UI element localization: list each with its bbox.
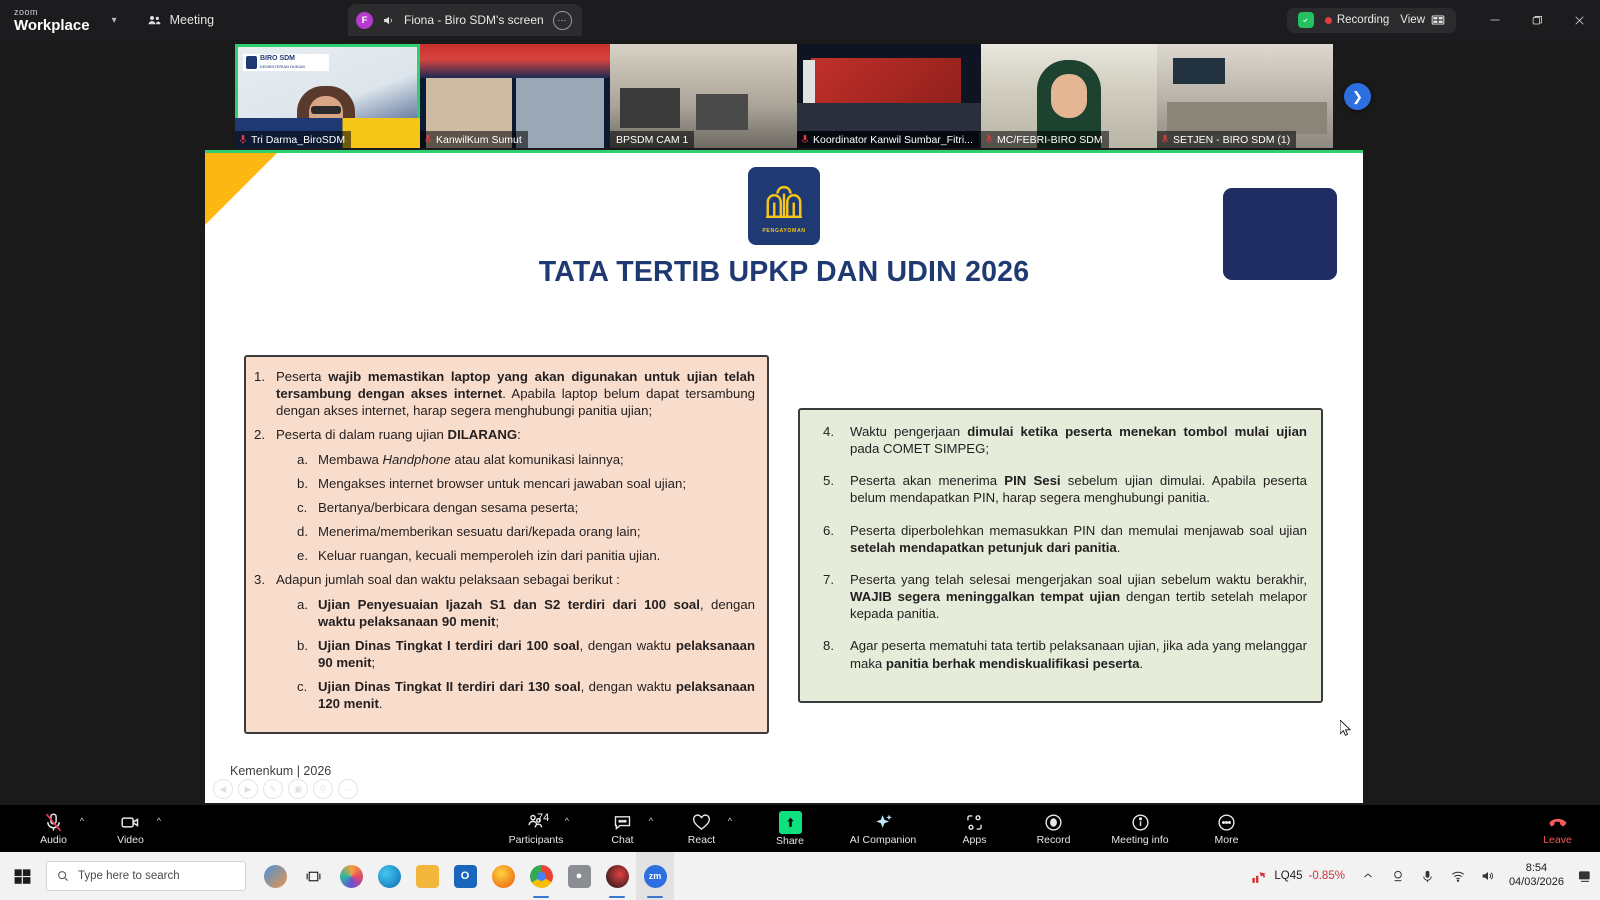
stock-symbol: LQ45 (1274, 870, 1302, 882)
list-text: Peserta akan menerima PIN Sesi sebelum u… (850, 472, 1311, 506)
volume-button[interactable] (1473, 852, 1503, 900)
list-text: Menerima/memberikan sesuatu dari/kepada … (318, 523, 755, 540)
chevron-up-icon (1362, 870, 1374, 882)
video-camera-icon (120, 812, 141, 833)
taskbar-edge[interactable] (370, 852, 408, 900)
recording-indicator[interactable]: Recording (1325, 14, 1389, 26)
taskbar-outlook[interactable]: O (446, 852, 484, 900)
list-text: Ujian Penyesuaian Ijazah S1 dan S2 terdi… (318, 596, 755, 630)
prev-slide-icon[interactable]: ◀ (213, 779, 233, 799)
list-text: Adapun jumlah soal dan waktu pelaksaan s… (276, 571, 755, 588)
close-button[interactable] (1558, 0, 1600, 40)
speaker-icon (1480, 868, 1496, 884)
leave-button[interactable]: Leave (1529, 805, 1586, 852)
windows-logo-icon (13, 867, 32, 886)
meeting-info-label: Meeting info (1111, 835, 1168, 846)
mouse-cursor (1340, 720, 1351, 736)
notification-icon (1577, 868, 1593, 884)
annotation-toolbar[interactable]: ◀ ▶ ✎ ▣ ⚲ ⋯ (213, 779, 358, 799)
list-marker: 1. (254, 368, 276, 419)
heart-icon (691, 812, 712, 833)
banyan-tree-icon (758, 179, 810, 231)
tile-name: Tri Darma_BiroSDM (235, 131, 351, 148)
chat-button[interactable]: Chat ^ (594, 805, 651, 852)
taskbar-camera[interactable]: ● (560, 852, 598, 900)
chat-label: Chat (611, 835, 633, 846)
list-text: Bertanya/berbicara dengan sesama peserta… (318, 499, 755, 516)
list-text: Peserta wajib memastikan laptop yang aka… (276, 368, 755, 419)
meeting-tab[interactable]: Meeting (147, 13, 214, 28)
search-placeholder: Type here to search (78, 870, 180, 882)
taskbar-firefox[interactable] (484, 852, 522, 900)
notification-center-button[interactable] (1570, 852, 1600, 900)
brand-top: zoom (14, 8, 90, 17)
ai-companion-button[interactable]: AI Companion (842, 805, 924, 852)
list-text: Peserta di dalam ruang ujian DILARANG: (276, 426, 755, 443)
meeting-info-button[interactable]: Meeting info (1104, 805, 1176, 852)
app-icon (606, 865, 629, 888)
participants-label: Participants (509, 835, 564, 846)
audio-button[interactable]: Audio ^ (25, 805, 82, 852)
status-pod: Recording View (1287, 8, 1456, 33)
edge-icon (378, 865, 401, 888)
show-hidden-icons-button[interactable] (1353, 852, 1383, 900)
tile-name: SETJEN - BIRO SDM (1) (1157, 131, 1296, 148)
clock-time: 8:54 (1526, 862, 1547, 876)
rule-item-left: c.Ujian Dinas Tingkat II terdiri dari 13… (254, 678, 755, 712)
camera-icon[interactable]: ▣ (288, 779, 308, 799)
taskbar-copilot[interactable] (332, 852, 370, 900)
shared-screen-slide[interactable]: PENGAYOMAN TATA TERTIB UPKP DAN UDIN 202… (205, 150, 1363, 803)
list-marker: b. (297, 475, 318, 492)
list-marker: c. (297, 678, 318, 712)
logo-caption: PENGAYOMAN (762, 228, 805, 234)
apps-icon (964, 812, 985, 833)
list-text: Keluar ruangan, kecuali memperoleh izin … (318, 547, 755, 564)
taskbar-chrome[interactable] (522, 852, 560, 900)
search-input[interactable]: Type here to search (46, 861, 246, 891)
participants-count: 74 (537, 812, 549, 824)
slide-footer: Kemenkum | 2026 (230, 764, 331, 778)
list-text: Peserta diperbolehkan memasukkan PIN dan… (850, 522, 1311, 556)
info-icon (1130, 812, 1151, 833)
copilot-icon (340, 865, 363, 888)
video-tile[interactable]: KanwilKum Sumut (420, 44, 610, 148)
rule-item-left: e.Keluar ruangan, kecuali memperoleh izi… (254, 547, 755, 564)
rule-item-left: b.Ujian Dinas Tingkat I terdiri dari 100… (254, 637, 755, 671)
chrome-icon (530, 865, 553, 888)
active-share-tab[interactable]: F Fiona - Biro SDM's screen ⋯ (348, 4, 582, 36)
rules-box-left: 1.Peserta wajib memastikan laptop yang a… (244, 355, 769, 734)
video-tile[interactable]: BIRO SDMKEMENTERIAN HUKUM Tri Darma_Biro… (235, 44, 420, 148)
stock-change: -0.85% (1309, 870, 1345, 882)
decor-yellow-triangle (205, 153, 277, 225)
leave-label: Leave (1543, 835, 1572, 846)
layout-icon (1431, 13, 1445, 27)
record-label: Record (1037, 835, 1071, 846)
tile-label: Tri Darma_BiroSDM (251, 134, 345, 146)
rule-item-left: 1.Peserta wajib memastikan laptop yang a… (254, 368, 755, 419)
next-slide-icon[interactable]: ▶ (238, 779, 258, 799)
pengayoman-logo: PENGAYOMAN (748, 167, 820, 245)
rule-item-right: 6.Peserta diperbolehkan memasukkan PIN d… (810, 522, 1311, 556)
mic-icon (424, 134, 432, 145)
list-marker: 8. (810, 637, 850, 671)
video-tile[interactable]: Koordinator Kanwil Sumbar_Fitri... (797, 44, 981, 148)
clock[interactable]: 8:54 04/03/2026 (1503, 862, 1570, 890)
apps-label: Apps (963, 835, 987, 846)
list-text: Ujian Dinas Tingkat I terdiri dari 100 s… (318, 637, 755, 671)
chevron-up-icon[interactable]: ^ (157, 816, 161, 826)
list-marker: a. (297, 596, 318, 630)
zoom-icon[interactable]: ⚲ (313, 779, 333, 799)
view-button[interactable]: View (1400, 13, 1445, 27)
rule-item-right: 7.Peserta yang telah selesai mengerjakan… (810, 571, 1311, 622)
tile-label: KanwilKum Sumut (436, 134, 522, 146)
taskbar-news-widget[interactable] (256, 852, 294, 900)
zoom-control-bar: Audio ^ Video ^ 74 Participants ^ (0, 805, 1600, 852)
list-text: Mengakses internet browser untuk mencari… (318, 475, 755, 492)
rule-item-left: c.Bertanya/berbicara dengan sesama peser… (254, 499, 755, 516)
chat-bubble-icon (612, 812, 633, 833)
more-button[interactable]: More (1198, 805, 1255, 852)
list-marker: c. (297, 499, 318, 516)
rule-item-left: b.Mengakses internet browser untuk menca… (254, 475, 755, 492)
mic-icon (801, 134, 809, 145)
tile-label: SETJEN - BIRO SDM (1) (1173, 134, 1290, 146)
list-text: Peserta yang telah selesai mengerjakan s… (850, 571, 1311, 622)
rule-item-left: 3.Adapun jumlah soal dan waktu pelaksaan… (254, 571, 755, 588)
list-text: Waktu pengerjaan dimulai ketika peserta … (850, 423, 1311, 457)
page-title: TATA TERTIB UPKP DAN UDIN 2026 (205, 256, 1363, 289)
chevron-up-icon[interactable]: ^ (80, 816, 84, 826)
share-label: Share (776, 836, 804, 847)
rule-item-right: 4.Waktu pengerjaan dimulai ketika pesert… (810, 423, 1311, 457)
task-view-icon (305, 868, 322, 885)
more-icon[interactable]: ⋯ (338, 779, 358, 799)
search-icon (56, 869, 70, 883)
chevron-right-icon: ❯ (1352, 89, 1363, 105)
windows-taskbar: Type here to search O ● zm (0, 852, 1600, 900)
share-screen-button[interactable]: Share (760, 805, 820, 852)
rule-item-left: a.Ujian Penyesuaian Ijazah S1 dan S2 ter… (254, 596, 755, 630)
stock-down-icon (1251, 868, 1268, 885)
zoom-icon: zm (644, 865, 667, 888)
more-options-icon[interactable]: ⋯ (553, 11, 572, 30)
share-pill-label: Fiona - Biro SDM's screen (404, 13, 544, 27)
task-view-button[interactable] (294, 852, 332, 900)
leave-icon (1547, 812, 1569, 833)
tile-name: Koordinator Kanwil Sumbar_Fitri... (797, 131, 979, 148)
mic-icon (1420, 869, 1435, 884)
wifi-icon (1450, 868, 1466, 884)
filmstrip-next-button[interactable]: ❯ (1344, 83, 1371, 110)
rule-item-right: 5.Peserta akan menerima PIN Sesi sebelum… (810, 472, 1311, 506)
zoom-logo: zoom Workplace (14, 8, 90, 33)
taskbar-zoom[interactable]: zm (636, 852, 674, 900)
webcam-icon (1390, 868, 1406, 884)
start-button[interactable] (0, 852, 44, 900)
clock-date: 04/03/2026 (1509, 876, 1564, 890)
list-marker: 3. (254, 571, 276, 588)
participants-button[interactable]: 74 Participants ^ (505, 805, 567, 852)
zoom-title-bar: zoom Workplace ▾ Meeting F Fiona - Biro … (0, 0, 1600, 40)
rule-item-left: a.Membawa Handphone atau alat komunikasi… (254, 451, 755, 468)
participant-filmstrip[interactable]: BIRO SDMKEMENTERIAN HUKUM Tri Darma_Biro… (235, 44, 1333, 148)
wifi-button[interactable] (1443, 852, 1473, 900)
meeting-tab-label: Meeting (170, 13, 214, 27)
rules-box-right: 4.Waktu pengerjaan dimulai ketika pesert… (798, 408, 1323, 703)
tile-label: MC/FEBRI-BIRO SDM (997, 134, 1103, 146)
list-marker: a. (297, 451, 318, 468)
list-marker: 5. (810, 472, 850, 506)
tile-name: MC/FEBRI-BIRO SDM (981, 131, 1109, 148)
list-text: Agar peserta mematuhi tata tertib pelaks… (850, 637, 1311, 671)
react-label: React (688, 835, 715, 846)
record-button[interactable]: Record (1025, 805, 1082, 852)
camera-icon: ● (568, 865, 591, 888)
mic-muted-icon (43, 812, 64, 833)
view-label: View (1400, 14, 1425, 26)
list-marker: 6. (810, 522, 850, 556)
video-tile[interactable]: SETJEN - BIRO SDM (1) (1157, 44, 1333, 148)
share-screen-icon (779, 811, 802, 834)
list-marker: 2. (254, 426, 276, 443)
control-center-group: 74 Participants ^ Chat ^ React ^ (505, 805, 1255, 852)
chevron-down-icon[interactable]: ▾ (112, 15, 117, 26)
rule-item-right: 8.Agar peserta mematuhi tata tertib pela… (810, 637, 1311, 671)
chevron-up-icon[interactable]: ^ (728, 816, 732, 826)
brand-bottom: Workplace (14, 18, 90, 33)
video-label: Video (117, 835, 144, 846)
tile-name: KanwilKum Sumut (420, 131, 528, 148)
chevron-up-icon[interactable]: ^ (649, 816, 653, 826)
list-marker: 4. (810, 423, 850, 457)
system-tray: LQ45 -0.85% 8:54 (1243, 852, 1600, 900)
speaker-icon (382, 14, 395, 27)
react-button[interactable]: React ^ (673, 805, 730, 852)
tile-label: Koordinator Kanwil Sumbar_Fitri... (813, 134, 973, 146)
chevron-up-icon[interactable]: ^ (565, 816, 569, 826)
meet-now-button[interactable] (1383, 852, 1413, 900)
video-tile[interactable]: MC/FEBRI-BIRO SDM (981, 44, 1157, 148)
stock-widget[interactable]: LQ45 -0.85% (1243, 868, 1353, 885)
video-button[interactable]: Video ^ (102, 805, 159, 852)
recording-dot-icon (1325, 17, 1332, 24)
video-tile[interactable]: BPSDM CAM 1 (610, 44, 797, 148)
record-icon (1043, 812, 1064, 833)
pen-icon[interactable]: ✎ (263, 779, 283, 799)
apps-button[interactable]: Apps (946, 805, 1003, 852)
maximize-button[interactable] (1516, 0, 1558, 40)
avatar: F (356, 12, 373, 29)
list-text: Ujian Dinas Tingkat II terdiri dari 130 … (318, 678, 755, 712)
minimize-button[interactable] (1474, 0, 1516, 40)
list-marker: 7. (810, 571, 850, 622)
weather-icon (264, 865, 287, 888)
window-controls-group: Recording View (1287, 0, 1600, 40)
tile-name: BPSDM CAM 1 (610, 131, 694, 148)
outlook-icon: O (454, 865, 477, 888)
taskbar-app-dark[interactable] (598, 852, 636, 900)
file-explorer-icon (416, 865, 439, 888)
microphone-tray-icon[interactable] (1413, 852, 1443, 900)
audio-label: Audio (40, 835, 67, 846)
tile-label: BPSDM CAM 1 (616, 134, 688, 146)
mic-icon (985, 134, 993, 145)
recording-label: Recording (1337, 14, 1389, 26)
firefox-icon (492, 865, 515, 888)
rule-item-left: 2.Peserta di dalam ruang ujian DILARANG: (254, 426, 755, 443)
ai-sparkle-icon (873, 812, 894, 833)
ai-companion-label: AI Companion (850, 835, 917, 846)
list-marker: d. (297, 523, 318, 540)
list-marker: e. (297, 547, 318, 564)
list-text: Membawa Handphone atau alat komunikasi l… (318, 451, 755, 468)
rule-item-left: d.Menerima/memberikan sesuatu dari/kepad… (254, 523, 755, 540)
more-dots-icon (1216, 812, 1237, 833)
sharing-border (205, 150, 1363, 153)
more-label: More (1215, 835, 1239, 846)
encryption-shield-icon[interactable] (1298, 12, 1314, 28)
mic-icon (239, 134, 247, 145)
mic-icon (1161, 134, 1169, 145)
list-marker: b. (297, 637, 318, 671)
taskbar-file-explorer[interactable] (408, 852, 446, 900)
people-icon (147, 13, 162, 28)
